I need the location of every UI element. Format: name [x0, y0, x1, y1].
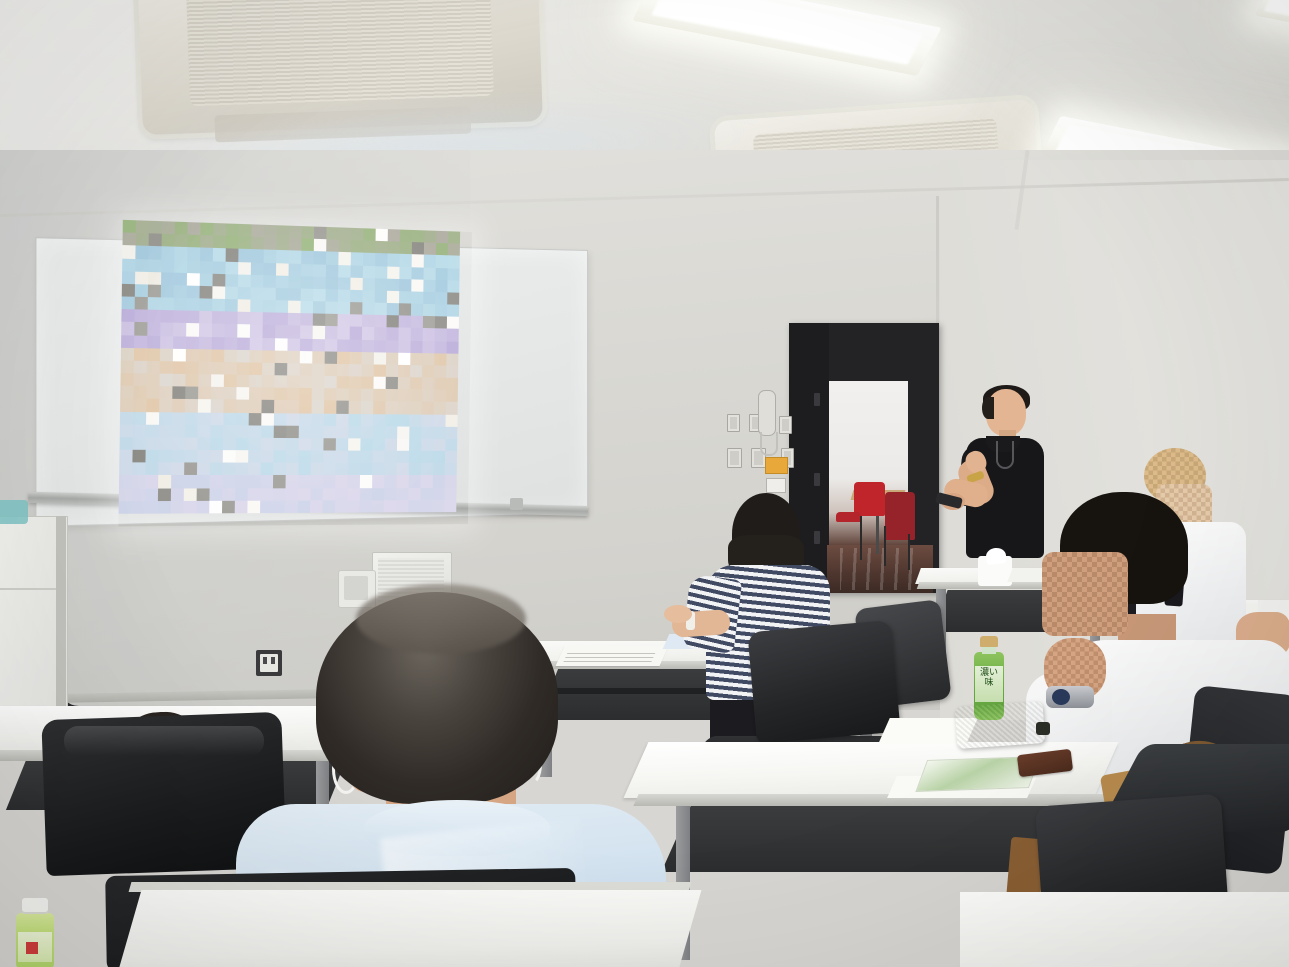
mosaic-block: [299, 413, 312, 426]
mosaic-block: [263, 312, 276, 325]
mosaic-block: [338, 289, 350, 302]
mosaic-block: [276, 238, 289, 251]
mosaic-block: [226, 249, 239, 262]
mosaic-block: [198, 374, 211, 387]
mosaic-block: [360, 438, 372, 450]
mosaic-block: [119, 475, 132, 488]
mosaic-block: [119, 501, 132, 514]
mosaic-block: [171, 488, 184, 501]
mosaic-block: [422, 353, 434, 365]
mosaic-block: [210, 412, 223, 425]
mosaic-block: [132, 463, 145, 476]
mosaic-block: [273, 463, 286, 476]
mosaic-block: [348, 426, 360, 438]
mosaic-block: [299, 425, 312, 438]
mosaic-block: [223, 400, 236, 413]
mosaic-block: [349, 376, 361, 389]
mosaic-block: [326, 277, 339, 290]
mosaic-block: [350, 290, 362, 303]
mosaic-block: [209, 513, 222, 526]
mosaic-block: [421, 475, 433, 487]
mosaic-block: [251, 274, 264, 287]
mosaic-block: [147, 373, 160, 386]
mosaic-block: [422, 390, 434, 402]
mosaic-block: [409, 439, 421, 451]
mosaic-block: [338, 302, 350, 315]
mosaic-block: [273, 475, 286, 488]
mosaic-block: [384, 500, 396, 512]
mosaic-block: [362, 327, 374, 340]
mosaic-block: [249, 387, 262, 400]
mosaic-block: [335, 475, 347, 487]
mosaic-block: [410, 402, 422, 414]
mosaic-block: [325, 326, 338, 339]
mosaic-block: [351, 240, 363, 253]
mosaic-block: [336, 451, 348, 463]
mosaic-block: [408, 488, 420, 500]
mosaic-block: [459, 305, 471, 317]
mosaic-block: [223, 463, 236, 476]
mosaic-block: [387, 254, 399, 267]
mosaic-block: [326, 264, 339, 277]
mosaic-block: [360, 488, 372, 500]
mosaic-block: [120, 411, 133, 424]
mosaic-block: [261, 425, 274, 438]
mosaic-block: [384, 488, 396, 500]
mosaic-block: [187, 273, 200, 286]
mosaic-block: [348, 413, 360, 425]
mosaic-block: [432, 512, 444, 524]
mosaic-block: [289, 238, 302, 251]
mosaic-block: [289, 251, 302, 264]
mosaic-block: [288, 301, 301, 314]
mosaic-block: [420, 488, 432, 500]
mosaic-block: [223, 425, 236, 438]
mosaic-block: [397, 426, 409, 438]
mosaic-block: [276, 263, 289, 276]
mosaic-block: [133, 412, 146, 425]
mosaic-block: [444, 500, 456, 512]
mosaic-block: [132, 488, 145, 501]
mosaic-block: [434, 377, 446, 389]
mosaic-block: [159, 424, 172, 437]
mosaic-block: [336, 438, 348, 450]
mosaic-block: [423, 292, 435, 305]
mosaic-block: [198, 362, 211, 375]
mosaic-block: [444, 488, 456, 500]
mosaic-block: [185, 399, 198, 412]
mosaic-block: [212, 299, 225, 312]
mosaic-block: [250, 287, 263, 300]
mosaic-block: [424, 230, 436, 243]
mosaic-block: [446, 378, 458, 390]
mosaic-block: [235, 500, 248, 513]
mosaic-block: [297, 513, 310, 526]
mosaic-block: [174, 260, 187, 273]
mosaic-block: [409, 463, 421, 475]
mosaic-block: [160, 374, 173, 387]
mosaic-block: [273, 488, 286, 501]
mosaic-block: [312, 388, 325, 401]
mosaic-block: [459, 268, 471, 281]
mosaic-block: [300, 313, 313, 326]
mosaic-block: [209, 500, 222, 513]
mosaic-block: [373, 401, 385, 413]
mosaic-block: [301, 288, 314, 301]
mosaic-block: [136, 220, 149, 233]
mosaic-block: [310, 488, 323, 500]
mosaic-block: [249, 362, 262, 375]
mosaic-block: [337, 351, 349, 364]
mosaic-block: [173, 348, 186, 361]
mosaic-block: [132, 450, 145, 463]
mosaic-block: [448, 243, 460, 256]
mosaic-block: [261, 438, 274, 451]
mosaic-block: [225, 312, 238, 325]
mosaic-block: [359, 500, 371, 512]
mosaic-block: [433, 426, 445, 438]
mosaic-block: [122, 233, 135, 246]
desk-foreground-bottom: [119, 890, 702, 967]
mosaic-block: [313, 264, 326, 277]
mosaic-block: [118, 514, 131, 527]
mosaic-block: [372, 500, 384, 512]
mosaic-block: [445, 439, 457, 451]
mosaic-block: [122, 284, 135, 297]
light-switch-1[interactable]: [727, 414, 740, 432]
chair-behind-woman[interactable]: [747, 620, 900, 744]
mosaic-block: [435, 304, 447, 316]
mosaic-block: [335, 463, 347, 475]
mosaic-block: [199, 324, 212, 337]
mosaic-block: [263, 287, 276, 300]
mosaic-block: [186, 323, 199, 336]
mosaic-block: [286, 438, 299, 451]
mosaic-block: [274, 413, 287, 426]
mosaic-block: [213, 248, 226, 261]
mosaic-block: [123, 220, 136, 233]
mosaic-block: [360, 451, 372, 463]
light-switch-3[interactable]: [779, 416, 792, 434]
adjacent-chair-leg-3: [908, 534, 910, 570]
mosaic-block: [445, 463, 457, 475]
mosaic-block: [134, 348, 147, 361]
mosaic-block: [148, 297, 161, 310]
mosaic-block: [184, 475, 197, 488]
mosaic-block: [457, 439, 469, 451]
mosaic-block: [133, 424, 146, 437]
mosaic-block: [250, 300, 263, 313]
mosaic-block: [409, 451, 421, 463]
mosaic-block: [397, 438, 409, 450]
mosaic-block: [224, 362, 237, 375]
mosaic-block: [273, 450, 286, 463]
mosaic-block: [436, 255, 448, 268]
mosaic-block: [121, 348, 134, 361]
mosaic-block: [422, 402, 434, 414]
mosaic-block: [224, 349, 237, 362]
mosaic-block: [339, 227, 351, 240]
mosaic-block: [272, 513, 285, 526]
mosaic-block: [347, 488, 359, 500]
bottle-label-text: 濃い味: [978, 668, 1000, 698]
mosaic-block: [263, 325, 276, 338]
mosaic-block: [251, 249, 264, 262]
mosaic-block: [210, 475, 223, 488]
mosaic-block: [387, 291, 399, 304]
presenter-hair-side: [982, 397, 994, 419]
mosaic-block: [276, 250, 289, 263]
mosaic-block: [326, 227, 339, 240]
mosaic-block: [447, 304, 459, 316]
mosaic-block: [324, 376, 337, 389]
mosaic-block: [160, 348, 173, 361]
mosaic-block: [423, 328, 435, 340]
mosaic-block: [263, 262, 276, 275]
mosaic-block: [237, 375, 250, 388]
mosaic-block: [119, 450, 132, 463]
mosaic-block: [161, 247, 174, 260]
mosaic-block: [339, 240, 351, 253]
adjacent-chair-leg-2: [884, 526, 886, 566]
mosaic-block: [411, 328, 423, 341]
mosaic-block: [212, 311, 225, 324]
mosaic-block: [224, 337, 237, 350]
mosaic-block: [436, 231, 448, 244]
mosaic-block: [299, 401, 312, 414]
mosaic-block: [158, 513, 171, 526]
mosaic-block: [338, 252, 350, 265]
mosaic-block: [212, 286, 225, 299]
mosaic-block: [373, 438, 385, 450]
mosaic-block: [211, 374, 224, 387]
mosaic-block: [421, 463, 433, 475]
mosaic-block: [251, 224, 264, 237]
mosaic-block: [385, 414, 397, 426]
mosaic-block: [275, 313, 288, 326]
bottle-neck: [982, 646, 996, 654]
mosaic-block: [209, 488, 222, 501]
mosaic-block: [446, 365, 458, 377]
mosaic-block: [301, 276, 314, 289]
mosaic-block: [135, 246, 148, 259]
mosaic-block: [172, 412, 185, 425]
mosaic-block: [325, 289, 338, 302]
mosaic-block: [300, 363, 313, 376]
mosaic-block: [411, 316, 423, 329]
mosaic-block: [300, 338, 313, 351]
mosaic-block: [313, 289, 326, 302]
mosaic-block: [175, 222, 188, 235]
mosaic-block: [173, 310, 186, 323]
mosaic-block: [131, 513, 144, 526]
mosaic-block: [120, 424, 133, 437]
mosaic-block: [386, 340, 398, 353]
mosaic-block: [286, 463, 299, 475]
mosaic-block: [158, 450, 171, 463]
mosaic-block: [224, 375, 237, 388]
mosaic-block: [434, 390, 446, 402]
mosaic-block: [298, 500, 311, 513]
mosaic-block: [375, 278, 387, 291]
bottle-label-mark: [26, 942, 38, 954]
mosaic-block: [312, 351, 325, 364]
mosaic-block: [187, 285, 200, 298]
mosaic-block: [172, 437, 185, 450]
mosaic-block: [250, 312, 263, 325]
mosaic-block: [373, 414, 385, 426]
teal-object-on-cabinet: [0, 500, 28, 524]
mosaic-block: [410, 365, 422, 377]
mosaic-block: [388, 229, 400, 242]
mosaic-block: [384, 512, 396, 524]
mosaic-block: [172, 399, 185, 412]
mosaic-block: [198, 412, 211, 425]
mosaic-block: [211, 387, 224, 400]
mosaic-block: [301, 263, 314, 276]
mosaic-block: [387, 278, 399, 291]
mosaic-block: [160, 323, 173, 336]
mosaic-block: [400, 254, 412, 267]
mosaic-block: [251, 262, 264, 275]
mosaic-block: [458, 390, 470, 402]
mosaic-block: [247, 513, 260, 526]
mosaic-block: [314, 251, 327, 264]
mosaic-block: [275, 338, 288, 351]
mosaic-block: [160, 310, 173, 323]
mosaic-block: [313, 276, 326, 289]
mosaic-block: [374, 364, 386, 377]
mosaic-block: [447, 329, 459, 341]
mosaic-block: [261, 450, 274, 463]
mosaic-block: [237, 337, 250, 350]
mosaic-block: [184, 463, 197, 476]
mosaic-block: [197, 437, 210, 450]
mosaic-block: [287, 350, 300, 363]
mosaic-block: [250, 350, 263, 363]
mosaic-block: [145, 488, 158, 501]
mosaic-block: [400, 242, 412, 255]
mosaic-block: [372, 475, 384, 487]
mosaic-block: [250, 337, 263, 350]
mosaic-block: [200, 223, 213, 236]
mosaic-block: [273, 500, 286, 513]
mosaic-block: [187, 260, 200, 273]
mosaic-block: [324, 401, 337, 414]
mosaic-block: [225, 274, 238, 287]
mosaic-block: [432, 488, 444, 500]
mosaic-block: [408, 512, 420, 524]
mosaic-block: [349, 352, 361, 365]
mosaic-block: [248, 488, 261, 501]
mosaic-block: [396, 475, 408, 487]
mosaic-block: [301, 251, 314, 264]
mosaic-block: [322, 513, 335, 525]
mosaic-block: [422, 377, 434, 389]
mosaic-block: [398, 328, 410, 341]
mosaic-block: [223, 450, 236, 463]
light-switch-4[interactable]: [727, 448, 742, 468]
mosaic-block: [372, 451, 384, 463]
mosaic-block: [122, 258, 135, 271]
mosaic-block: [288, 325, 301, 338]
mosaic-block: [145, 463, 158, 476]
mosaic-block: [226, 223, 239, 236]
mosaic-block: [199, 336, 212, 349]
mosaic-block: [363, 278, 375, 291]
watch-face: [1052, 689, 1070, 705]
mosaic-block: [362, 339, 374, 352]
mosaic-block: [375, 241, 387, 254]
mosaic-block: [145, 513, 158, 526]
mosaic-block: [300, 351, 313, 364]
mosaic-block: [183, 513, 196, 526]
mosaic-block: [174, 234, 187, 247]
mosaic-block: [199, 311, 212, 324]
mosaic-block: [323, 500, 336, 512]
mosaic-block: [412, 242, 424, 255]
mosaic-block: [422, 341, 434, 353]
white-notice-sign: [766, 478, 786, 493]
mosaic-block: [421, 451, 433, 463]
mosaic-block: [347, 512, 359, 524]
mosaic-block: [361, 414, 373, 426]
mosaic-block: [186, 298, 199, 311]
mosaic-block: [360, 475, 372, 487]
mosaic-block: [386, 352, 398, 365]
mosaic-block: [362, 302, 374, 315]
mosaic-block: [158, 501, 171, 514]
intercom-cord: [760, 432, 778, 456]
mosaic-block: [172, 425, 185, 438]
mosaic-block: [133, 386, 146, 399]
mosaic-block: [162, 234, 175, 247]
red-chair-2: [885, 492, 915, 540]
mosaic-block: [288, 313, 301, 326]
mosaic-block: [445, 414, 457, 426]
mosaic-block: [148, 272, 161, 285]
mosaic-block: [148, 284, 161, 297]
mosaic-block: [260, 500, 273, 513]
mosaic-block: [396, 512, 408, 524]
mosaic-block: [408, 500, 420, 512]
mosaic-block: [410, 340, 422, 352]
mosaic-block: [185, 387, 198, 400]
mosaic-block: [224, 387, 237, 400]
mosaic-block: [351, 253, 363, 266]
mosaic-block: [184, 488, 197, 501]
mosaic-block: [287, 338, 300, 351]
mosaic-block: [197, 463, 210, 476]
mosaic-block: [456, 512, 468, 524]
mosaic-block: [311, 438, 324, 450]
mosaic-block: [435, 292, 447, 305]
mosaic-block: [336, 401, 348, 414]
wall-intercom-handset[interactable]: [758, 390, 776, 436]
mosaic-block: [135, 271, 148, 284]
mosaic-block: [222, 488, 235, 501]
mosaic-block: [424, 243, 436, 256]
mosaic-block: [210, 425, 223, 438]
mosaic-block: [200, 260, 213, 273]
mosaic-block: [313, 314, 326, 327]
mosaic-block: [409, 426, 421, 438]
mosaic-block: [248, 425, 261, 438]
mosaic-block: [147, 361, 160, 374]
mosaic-block: [250, 325, 263, 338]
mosaic-block: [314, 227, 327, 240]
mosaic-block: [412, 254, 424, 267]
